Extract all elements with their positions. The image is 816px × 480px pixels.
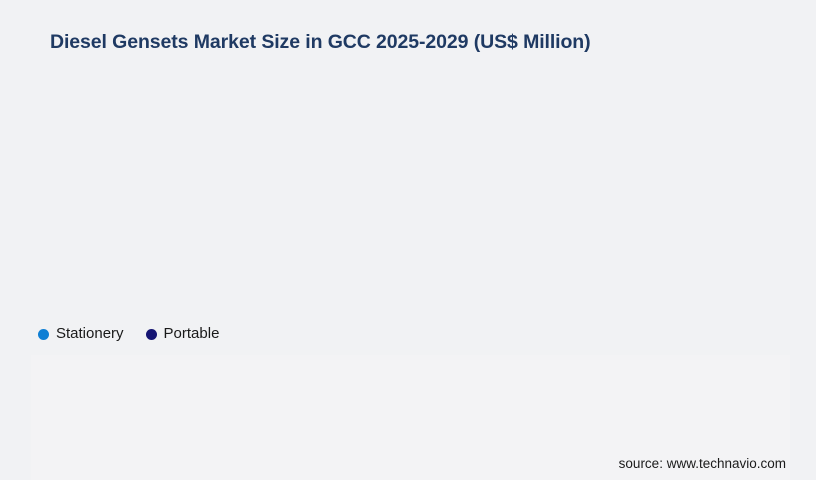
legend-item-portable[interactable]: Portable xyxy=(146,325,220,343)
plot-area xyxy=(31,66,790,316)
legend-marker-circle-icon-portable xyxy=(146,329,157,340)
chart-title: Diesel Gensets Market Size in GCC 2025-2… xyxy=(50,28,770,56)
chart-legend: Stationery Portable xyxy=(38,323,241,345)
legend-marker-circle-icon-stationery xyxy=(38,329,49,340)
legend-label-stationery: Stationery xyxy=(56,325,124,343)
source-caption: source: www.technavio.com xyxy=(619,456,786,471)
legend-label-portable: Portable xyxy=(164,325,220,343)
legend-item-stationery[interactable]: Stationery xyxy=(38,325,124,343)
chart-figure: Diesel Gensets Market Size in GCC 2025-2… xyxy=(0,0,816,480)
